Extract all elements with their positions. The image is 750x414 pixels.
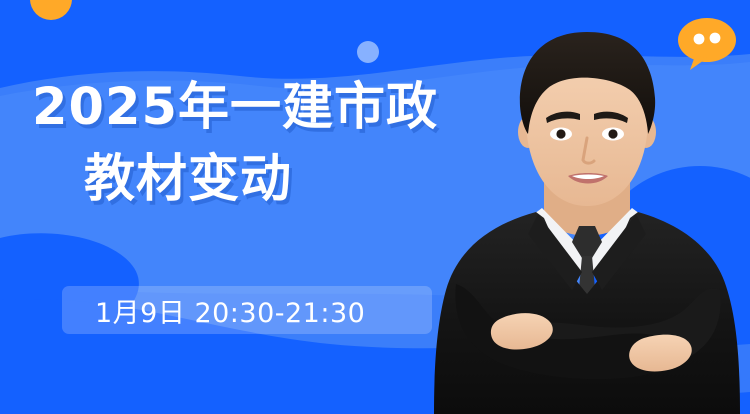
schedule-banner: 1月9日 20:30-21:30 <box>62 286 432 334</box>
headline-line-1: 2025年一建市政 <box>0 78 520 138</box>
promo-poster: 2025年一建市政 教材变动 1月9日 20:30-21:30 <box>0 0 750 414</box>
headline-group: 2025年一建市政 教材变动 <box>0 78 520 210</box>
light-blue-circle-icon <box>357 41 379 63</box>
person-pupil-left <box>556 129 565 138</box>
person-pupil-right <box>608 129 617 138</box>
headline-line-2: 教材变动 <box>0 150 520 210</box>
schedule-text: 1月9日 20:30-21:30 <box>62 291 365 330</box>
